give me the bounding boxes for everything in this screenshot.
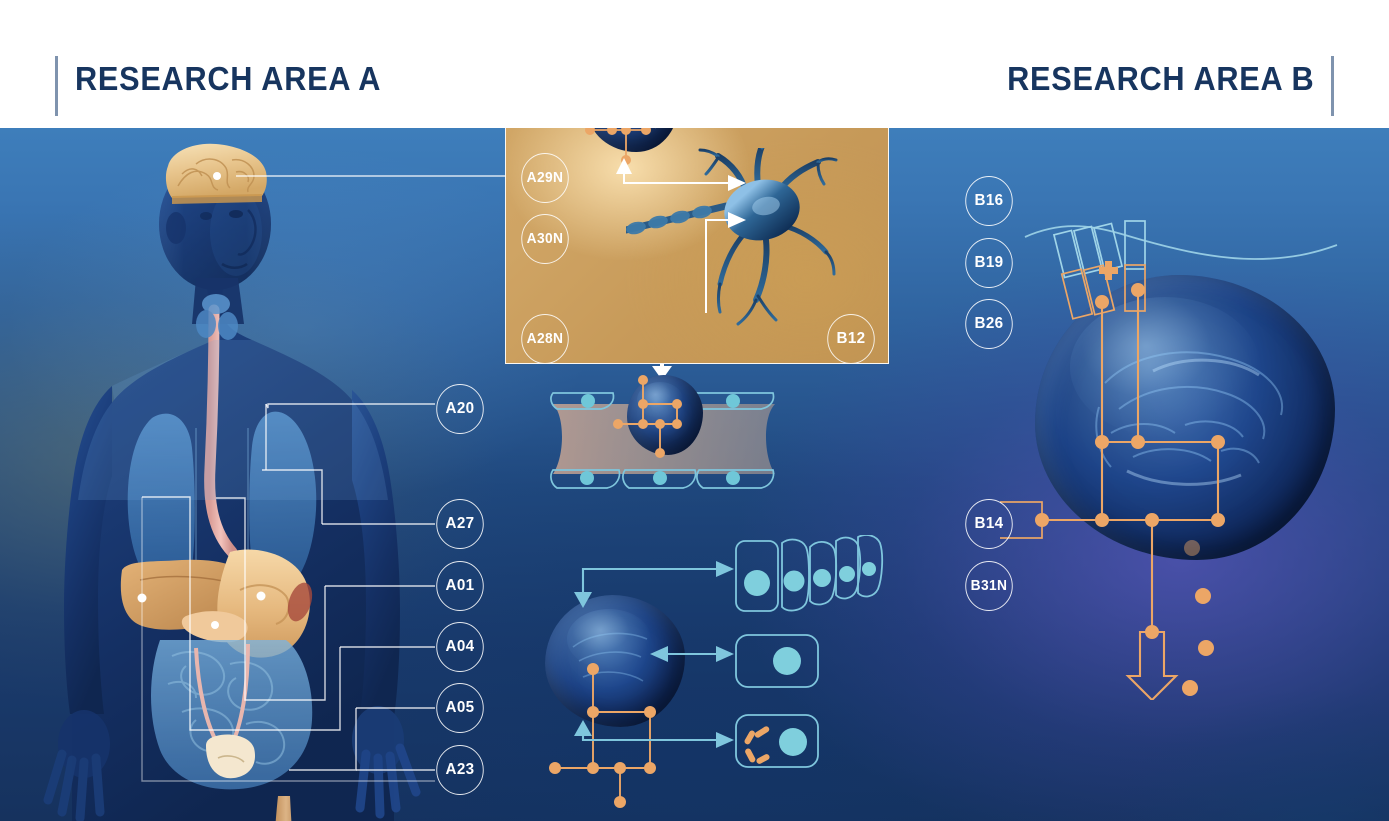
node-network-area-b	[1000, 280, 1360, 700]
badge-a20[interactable]: A20	[436, 384, 484, 434]
badge-b14[interactable]: B14	[965, 499, 1013, 549]
badge-b12-label: B12	[836, 330, 865, 348]
badge-a05-label: A05	[445, 699, 474, 717]
badge-a28n-label: A28N	[527, 331, 564, 347]
infographic-canvas: A20 A27 A01 A04 A05 A23 B16 B19 B26 B14 …	[0, 0, 1389, 821]
panel-single-cell	[733, 632, 823, 692]
badge-a23-label: A23	[445, 761, 474, 779]
badge-a29n-label: A29N	[527, 170, 564, 186]
epithelial-barrier-diagram	[505, 360, 905, 520]
badge-b16-label: B16	[974, 192, 1003, 210]
badge-b12[interactable]: B12	[827, 314, 875, 364]
badge-a23[interactable]: A23	[436, 745, 484, 795]
badge-a28n[interactable]: A28N	[521, 314, 569, 364]
panel-microbiome	[733, 712, 823, 772]
badge-b16[interactable]: B16	[965, 176, 1013, 226]
badge-a05[interactable]: A05	[436, 683, 484, 733]
badge-a20-label: A20	[445, 400, 474, 418]
badge-a30n[interactable]: A30N	[521, 214, 569, 264]
badge-b26-label: B26	[974, 315, 1003, 333]
header-rule-left	[55, 56, 58, 116]
single-cell-nucleus	[773, 647, 801, 675]
badge-a29n[interactable]: A29N	[521, 153, 569, 203]
badge-b14-label: B14	[974, 515, 1003, 533]
badge-b19[interactable]: B19	[965, 238, 1013, 288]
badge-b26[interactable]: B26	[965, 299, 1013, 349]
microbiome-cell-nucleus	[779, 728, 807, 756]
badge-b31n[interactable]: B31N	[965, 561, 1013, 611]
header-rule-right	[1331, 56, 1334, 116]
badge-a01-label: A01	[445, 577, 474, 595]
page-header: RESEARCH AREA A RESEARCH AREA B	[0, 0, 1389, 128]
badge-a27[interactable]: A27	[436, 499, 484, 549]
organ-brain	[166, 144, 267, 204]
output-arrow	[1128, 632, 1176, 700]
badge-a27-label: A27	[445, 515, 474, 533]
human-anatomy-figure	[0, 128, 440, 821]
bacteria-rods	[743, 725, 770, 765]
badge-a04[interactable]: A04	[436, 622, 484, 672]
badge-b19-label: B19	[974, 254, 1003, 272]
junction-cross-marker	[1099, 261, 1118, 280]
badge-a30n-label: A30N	[527, 231, 564, 247]
badge-a04-label: A04	[445, 638, 474, 656]
panel-epithelium	[732, 535, 902, 625]
badge-b31n-label: B31N	[971, 578, 1008, 594]
header-title-left: RESEARCH AREA A	[75, 60, 381, 98]
header-title-right: RESEARCH AREA B	[1007, 60, 1314, 98]
badge-a01[interactable]: A01	[436, 561, 484, 611]
